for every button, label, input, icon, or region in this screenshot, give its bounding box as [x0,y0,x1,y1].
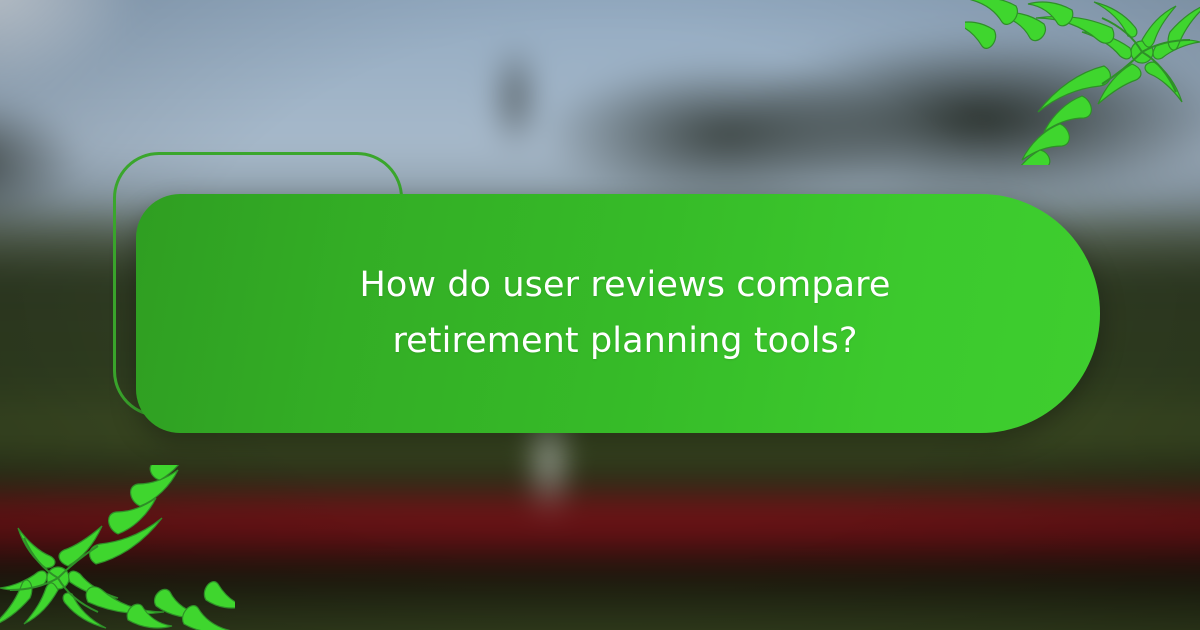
screenshot-stage: How do user reviews compare retirement p… [0,0,1200,630]
question-title: How do user reviews compare retirement p… [265,258,985,369]
question-card: How do user reviews compare retirement p… [136,194,1100,433]
